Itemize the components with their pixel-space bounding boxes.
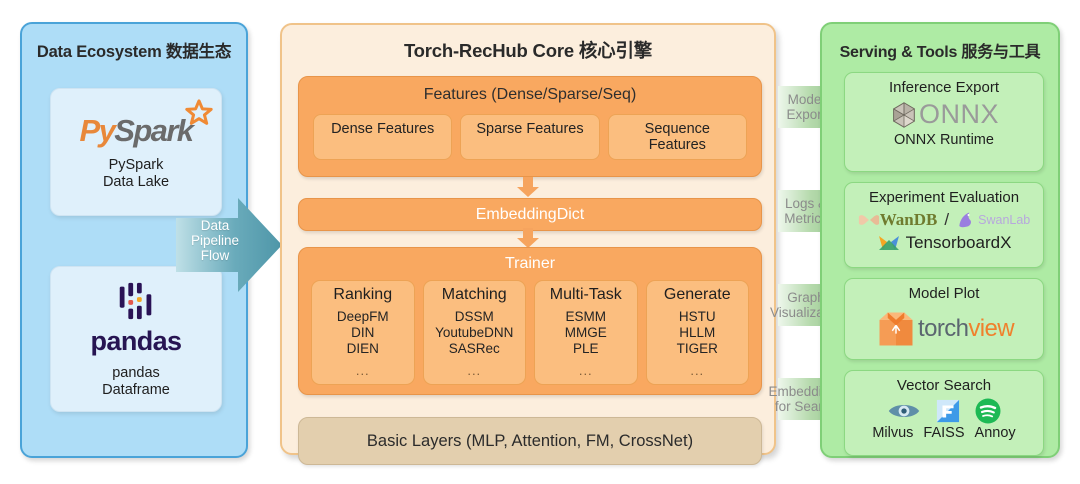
faiss-icon <box>935 399 961 423</box>
pyspark-caption-line2: Data Lake <box>103 174 169 191</box>
model-item: DIN <box>314 325 412 341</box>
wandb-icon <box>858 212 880 228</box>
pyspark-caption: PySpark Data Lake <box>103 157 169 191</box>
model-column-title: Ranking <box>314 286 412 304</box>
model-column-matching[interactable]: Matching DSSM YoutubeDNN SASRec ... <box>423 280 527 385</box>
swanlab-icon <box>956 210 976 230</box>
onnx-runtime-subtitle: ONNX Runtime <box>894 132 994 148</box>
panel-title-serving-tools: Serving & Tools 服务与工具 <box>822 38 1058 62</box>
card-title-inference-export: Inference Export <box>889 79 999 96</box>
torchview-text-view: view <box>968 315 1014 342</box>
box-basic-layers[interactable]: Basic Layers (MLP, Attention, FM, CrossN… <box>298 417 762 465</box>
panel-title-core: Torch-RecHub Core 核心引擎 <box>282 37 774 63</box>
trainer-column-row: Ranking DeepFM DIN DIEN ... Matching DSS… <box>307 280 753 385</box>
model-item: DIEN <box>314 341 412 357</box>
panel-title-data-ecosystem: Data Ecosystem 数据生态 <box>22 38 246 62</box>
torchview-text-torch: torch <box>918 315 968 342</box>
tensorboardx-label: TensorboardX <box>906 233 1012 253</box>
wandb-swanlab-row: WanDB / SwanLab <box>858 210 1031 230</box>
model-more-indicator: ... <box>314 363 412 378</box>
chip-sequence-features[interactable]: Sequence Features <box>608 114 747 160</box>
panel-serving-tools: Serving & Tools 服务与工具 Inference Export O… <box>820 22 1060 458</box>
model-item: MMGE <box>537 325 635 341</box>
vector-tool-label-faiss: FAISS <box>923 425 964 441</box>
card-model-plot[interactable]: Model Plot torchview <box>844 278 1044 360</box>
box-embedding-dict[interactable]: EmbeddingDict <box>298 198 762 231</box>
tensorboardx-row: TensorboardX <box>877 233 1012 253</box>
pandas-caption: pandas Dataframe <box>102 365 170 399</box>
model-item: PLE <box>537 341 635 357</box>
pyspark-logo-text-spark: Spark <box>114 113 192 149</box>
model-more-indicator: ... <box>426 363 524 378</box>
model-column-title: Multi-Task <box>537 286 635 304</box>
card-vector-search[interactable]: Vector Search <box>844 370 1044 456</box>
arrow-down-features-to-embedding <box>515 177 541 198</box>
pandas-logo-icon: pandas <box>91 279 182 357</box>
panel-torch-rechub-core: Torch-RecHub Core 核心引擎 Features (Dense/S… <box>280 23 776 455</box>
vector-search-icon-row <box>887 398 1001 424</box>
model-item: DeepFM <box>314 309 412 325</box>
model-item: TIGER <box>649 341 747 357</box>
separator-slash: / <box>944 210 949 230</box>
architecture-diagram: Data Ecosystem 数据生态 PySpark PySpark Data… <box>0 0 1080 484</box>
model-item: SASRec <box>426 341 524 357</box>
model-column-generate[interactable]: Generate HSTU HLLM TIGER ... <box>646 280 750 385</box>
pyspark-caption-line1: PySpark <box>103 157 169 174</box>
features-chip-row: Dense Features Sparse Features Sequence … <box>309 114 751 160</box>
model-column-title: Matching <box>426 286 524 304</box>
card-title-vector-search: Vector Search <box>897 377 991 394</box>
model-item: YoutubeDNN <box>426 325 524 341</box>
tensorboardx-icon <box>877 233 901 253</box>
features-title: Features (Dense/Sparse/Seq) <box>299 86 761 104</box>
arrow-data-pipeline-flow <box>176 196 284 294</box>
card-title-model-plot: Model Plot <box>909 285 980 302</box>
star-icon <box>184 99 214 129</box>
swanlab-label: SwanLab <box>978 213 1030 227</box>
card-experiment-evaluation[interactable]: Experiment Evaluation WanDB / SwanLab <box>844 182 1044 268</box>
model-item: HLLM <box>649 325 747 341</box>
model-more-indicator: ... <box>649 363 747 378</box>
onnx-logo-text: ONNX <box>919 99 999 130</box>
card-title-experiment-evaluation: Experiment Evaluation <box>869 189 1019 206</box>
pyspark-logo-icon: PySpark <box>80 113 193 149</box>
box-trainer[interactable]: Trainer Ranking DeepFM DIN DIEN ... Matc… <box>298 247 762 395</box>
annoy-icon <box>975 398 1001 424</box>
chip-dense-features[interactable]: Dense Features <box>313 114 452 160</box>
torchview-logo-text: torchview <box>918 315 1014 343</box>
vector-tool-label-annoy: Annoy <box>975 425 1016 441</box>
model-item: DSSM <box>426 309 524 325</box>
model-item: HSTU <box>649 309 747 325</box>
model-column-ranking[interactable]: Ranking DeepFM DIN DIEN ... <box>311 280 415 385</box>
model-column-multi-task[interactable]: Multi-Task ESMM MMGE PLE ... <box>534 280 638 385</box>
chip-sparse-features[interactable]: Sparse Features <box>460 114 599 160</box>
model-item: ESMM <box>537 309 635 325</box>
torchview-logo-row: torchview <box>874 307 1014 351</box>
onnx-icon <box>889 100 919 130</box>
vector-tool-label-milvus: Milvus <box>872 425 913 441</box>
pandas-logo-text: pandas <box>91 326 182 357</box>
pandas-caption-line2: Dataframe <box>102 382 170 399</box>
arrow-down-embedding-to-trainer <box>515 228 541 249</box>
onnx-logo-row: ONNX <box>889 99 999 130</box>
wandb-label: WanDB <box>880 210 938 230</box>
vector-search-label-row: Milvus FAISS Annoy <box>872 425 1015 441</box>
torchview-box-icon <box>874 307 918 351</box>
model-column-title: Generate <box>649 286 747 304</box>
pyspark-logo-text-py: Py <box>80 113 115 149</box>
card-inference-export[interactable]: Inference Export ONNX ONNX Runtime <box>844 72 1044 172</box>
pandas-caption-line1: pandas <box>102 365 170 382</box>
model-more-indicator: ... <box>537 363 635 378</box>
box-features[interactable]: Features (Dense/Sparse/Seq) Dense Featur… <box>298 76 762 177</box>
milvus-icon <box>887 400 921 422</box>
trainer-title: Trainer <box>299 255 761 273</box>
pandas-bars-icon <box>113 279 159 323</box>
